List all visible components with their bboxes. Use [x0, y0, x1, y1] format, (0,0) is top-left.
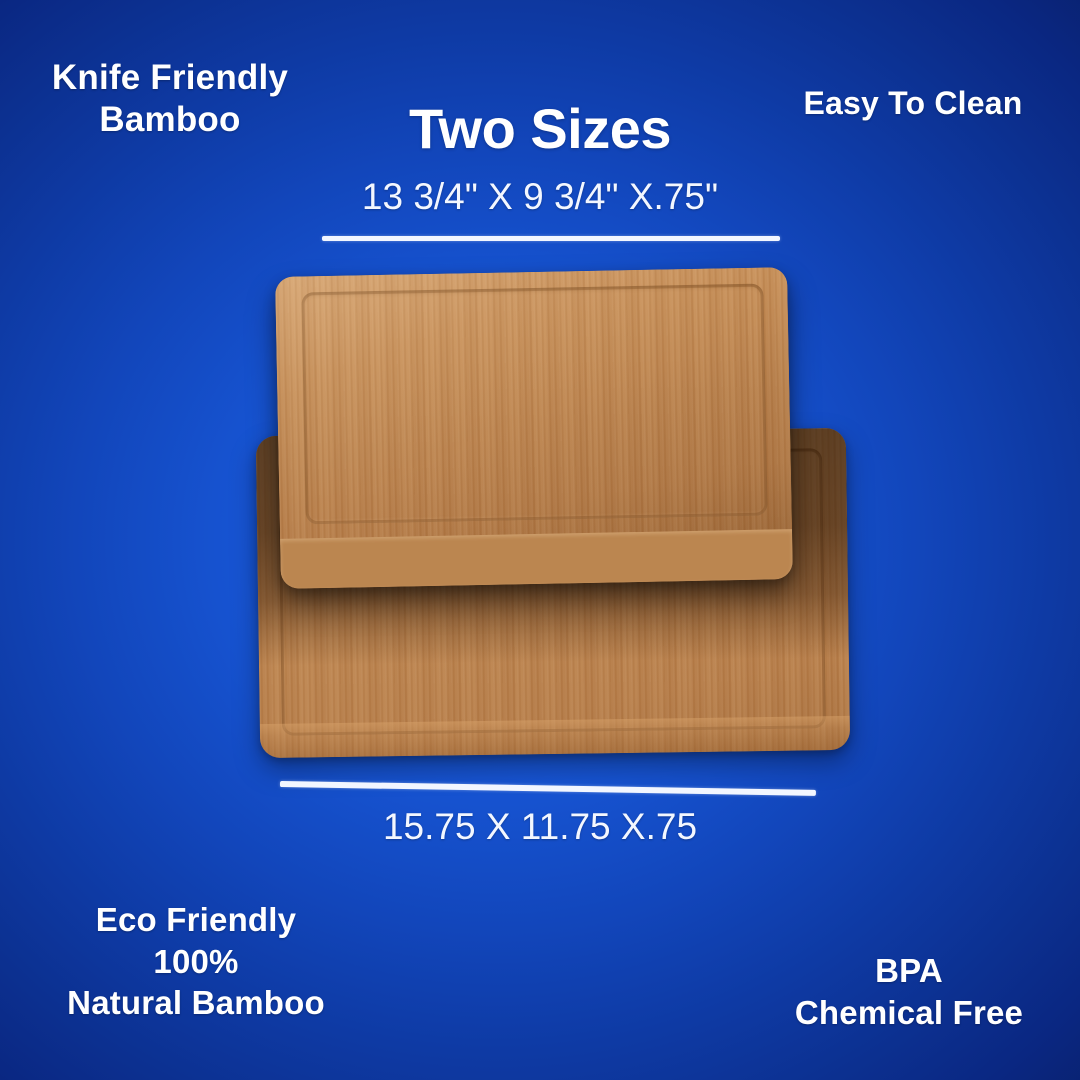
feature-eco-friendly: Eco Friendly 100% Natural Bamboo: [6, 899, 386, 1024]
divider-rule-bottom: [280, 781, 816, 796]
dimension-label-large-board: 15.75 X 11.75 X.75: [0, 806, 1080, 848]
background-gradient: [0, 0, 1, 1]
lower-board-juice-groove: [278, 448, 826, 736]
upper-board-juice-groove: [301, 284, 767, 525]
lower-large-board: [256, 428, 850, 758]
dimension-label-small-board: 13 3/4" X 9 3/4" X.75": [0, 176, 1080, 218]
lower-board-front-edge: [260, 716, 850, 758]
divider-rule-top: [322, 236, 780, 241]
page-title: Two Sizes: [0, 96, 1080, 161]
upper-board-top-face: [275, 267, 792, 545]
upper-board-highlight: [275, 267, 792, 545]
upper-board-front-edge: [280, 529, 793, 589]
lower-board-cast-shadow: [256, 428, 849, 666]
feature-bpa-chemical-free: BPA Chemical Free: [764, 950, 1054, 1033]
upper-small-board: [275, 267, 793, 589]
product-infographic: Knife Friendly Bamboo Easy To Clean Two …: [0, 0, 1080, 1080]
